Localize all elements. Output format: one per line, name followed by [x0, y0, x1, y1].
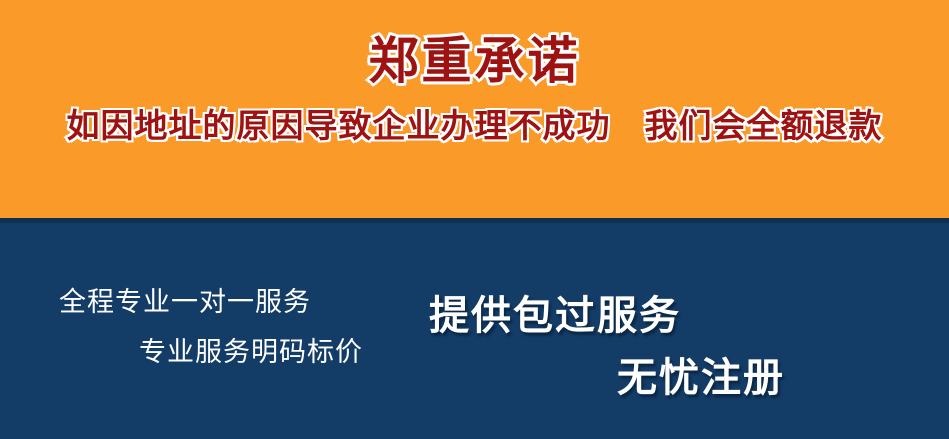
promise-panel: 郑重承诺 如因地址的原因导致企业办理不成功 我们会全额退款	[0, 0, 949, 218]
service-highlight-guaranteed: 提供包过服务	[415, 285, 885, 347]
service-item-one-on-one: 全程专业一对一服务	[55, 278, 395, 328]
promise-title: 郑重承诺	[0, 32, 949, 90]
service-list-right: 提供包过服务 无忧注册	[415, 285, 885, 409]
service-list-left: 全程专业一对一服务 专业服务明码标价	[55, 278, 395, 378]
service-panel: 全程专业一对一服务 专业服务明码标价 提供包过服务 无忧注册	[0, 223, 949, 439]
promotional-banner: 郑重承诺 如因地址的原因导致企业办理不成功 我们会全额退款 全程专业一对一服务 …	[0, 0, 949, 439]
promise-subtitle: 如因地址的原因导致企业办理不成功 我们会全额退款	[0, 104, 949, 148]
service-item-transparent-pricing: 专业服务明码标价	[55, 328, 395, 378]
service-highlight-worry-free: 无忧注册	[415, 347, 885, 409]
